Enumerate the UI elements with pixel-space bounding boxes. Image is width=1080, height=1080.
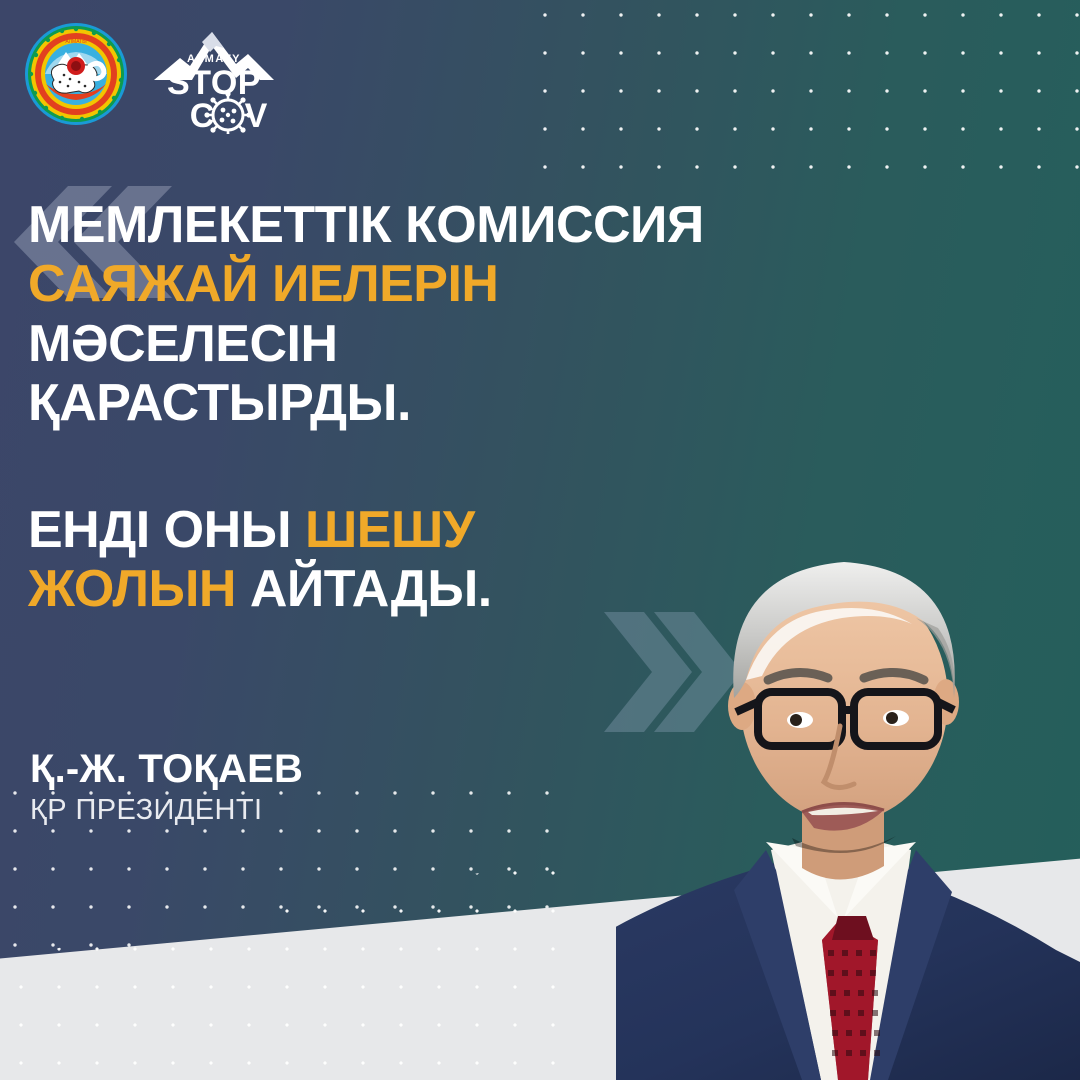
- headline-line-2: САЯЖАЙ ИЕЛЕРІН: [28, 255, 888, 314]
- headline-line-1: МЕМЛЕКЕТТІК КОМИССИЯ: [28, 196, 888, 255]
- headline-line-4: ҚАРАСТЫРДЫ.: [28, 374, 888, 433]
- headline-segment: ЕНДІ ОНЫ: [28, 501, 305, 559]
- quote-spacer: [28, 433, 888, 501]
- headline-segment: МЕМЛЕКЕТТІК КОМИССИЯ: [28, 196, 704, 254]
- speaker-name: Қ.-Ж. ТОҚАЕВ: [30, 748, 303, 790]
- headline-segment: АЙТАДЫ.: [236, 560, 492, 618]
- headline-segment-accent: ЖОЛЫН: [28, 560, 236, 618]
- headline-line-3: МӘСЕЛЕСІН: [28, 315, 888, 374]
- svg-text:АЛМАТЫ: АЛМАТЫ: [65, 39, 87, 45]
- headline-segment-accent: ШЕШУ: [305, 501, 475, 559]
- almaty-city-emblem-icon: АЛМАТЫ: [24, 22, 128, 126]
- logo-row: АЛМАТЫ ALMATY STOP C V: [24, 22, 278, 134]
- poster-canvas: АЛМАТЫ ALMATY STOP C V: [0, 0, 1080, 1080]
- almaty-stop-cov-logo-icon: ALMATY STOP C V: [150, 22, 278, 134]
- president-portrait: [616, 520, 1080, 1080]
- speaker-role: ҚР ПРЕЗИДЕНТІ: [30, 794, 303, 827]
- dot-grid-top-right: [524, 0, 1080, 190]
- headline-segment: МӘСЕЛЕСІН: [28, 315, 338, 373]
- headline-segment: ҚАРАСТЫРДЫ.: [28, 374, 411, 432]
- attribution-block: Қ.-Ж. ТОҚАЕВ ҚР ПРЕЗИДЕНТІ: [30, 748, 303, 827]
- headline-segment-accent: САЯЖАЙ ИЕЛЕРІН: [28, 255, 498, 313]
